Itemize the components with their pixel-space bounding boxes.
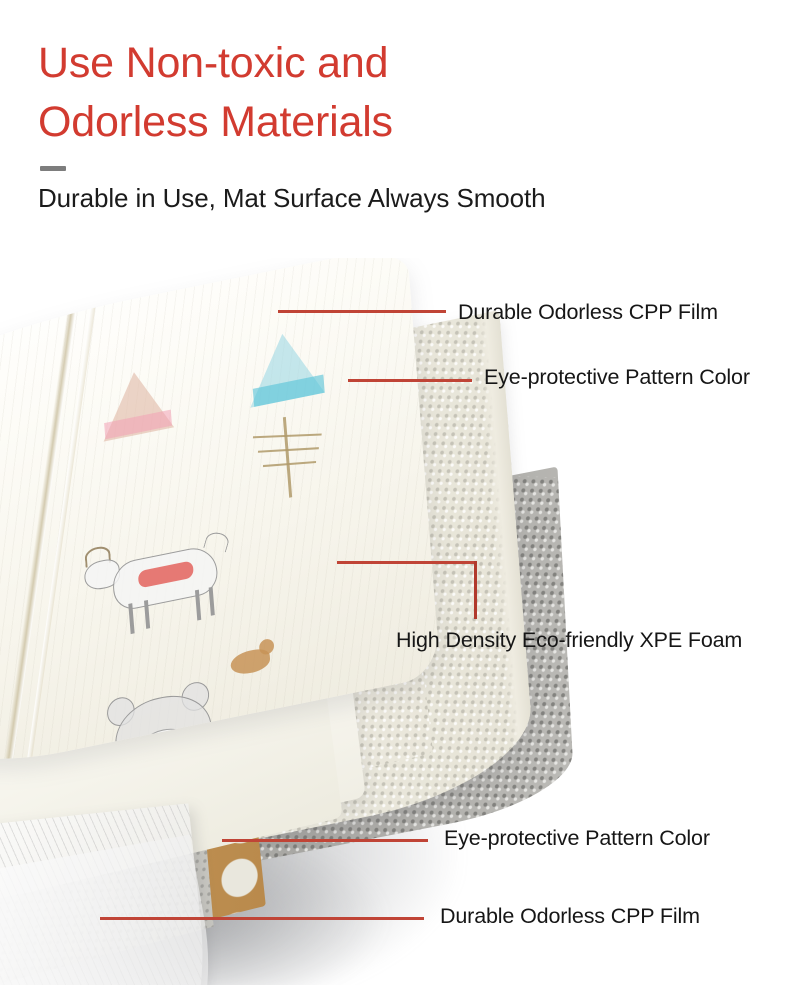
leader-line-xpe-foam-vertical [474, 561, 477, 619]
leader-line-cpp-film-top [278, 310, 446, 313]
leader-line-pattern-color-bottom [222, 839, 428, 842]
page-title: Use Non-toxic and Odorless Materials [38, 34, 738, 152]
leader-line-cpp-film-bottom [100, 917, 424, 920]
leader-line-pattern-color-top [348, 379, 472, 382]
page-subtitle: Durable in Use, Mat Surface Always Smoot… [38, 181, 738, 215]
callout-label-pattern-color-bottom: Eye-protective Pattern Color [444, 825, 710, 851]
callout-label-cpp-film-top: Durable Odorless CPP Film [458, 299, 718, 325]
header-block: Use Non-toxic and Odorless Materials Dur… [38, 34, 738, 215]
leader-line-xpe-foam-horizontal [337, 561, 477, 564]
pine-tree-icon [244, 407, 341, 510]
callout-label-pattern-color-top: Eye-protective Pattern Color [484, 364, 750, 390]
callout-label-cpp-film-bottom: Durable Odorless CPP Film [440, 903, 700, 929]
title-divider [40, 166, 66, 171]
callout-label-xpe-foam: High Density Eco-friendly XPE Foam [396, 627, 742, 653]
product-feature-page: Use Non-toxic and Odorless Materials Dur… [0, 0, 790, 985]
